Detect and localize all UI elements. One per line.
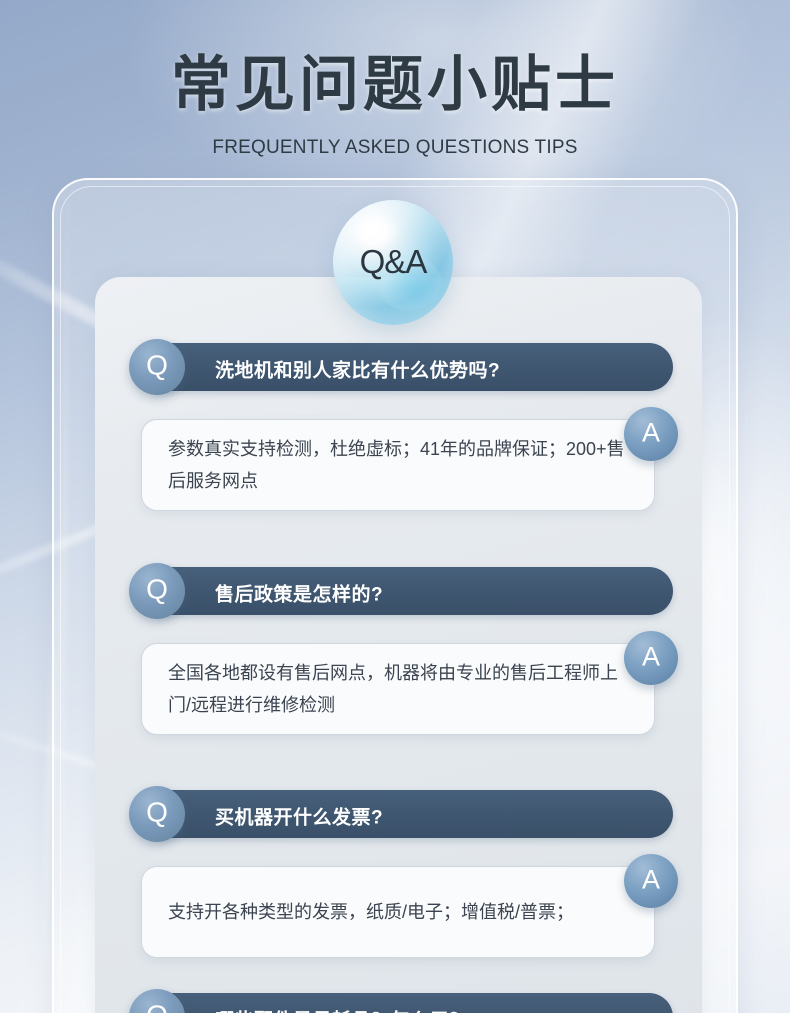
answer-text: 参数真实支持检测，杜绝虚标；41年的品牌保证；200+售后服务网点	[168, 433, 628, 497]
answer-row: 参数真实支持检测，杜绝虚标；41年的品牌保证；200+售后服务网点A	[95, 407, 702, 523]
answer-badge-label: A	[624, 417, 678, 448]
question-row[interactable]: Q买机器开什么发票?	[95, 790, 702, 842]
answer-card: 全国各地都设有售后网点，机器将由专业的售后工程师上门/远程进行维修检测	[141, 643, 655, 735]
answer-row: 支持开各种类型的发票，纸质/电子；增值税/普票；A	[95, 854, 702, 950]
faq-panel: Q洗地机和别人家比有什么优势吗?参数真实支持检测，杜绝虚标；41年的品牌保证；2…	[95, 277, 702, 1013]
answer-text: 全国各地都设有售后网点，机器将由专业的售后工程师上门/远程进行维修检测	[168, 657, 628, 721]
qa-bubble-label: Q&A	[333, 243, 453, 281]
answer-badge: A	[624, 631, 678, 685]
answer-card: 参数真实支持检测，杜绝虚标；41年的品牌保证；200+售后服务网点	[141, 419, 655, 511]
answer-badge: A	[624, 854, 678, 908]
question-text: 买机器开什么发票?	[215, 803, 383, 830]
faq-item[interactable]: Q哪些配件是易耗品？怎么用？	[95, 993, 702, 1013]
page-subtitle: FREQUENTLY ASKED QUESTIONS TIPS	[0, 137, 790, 159]
faq-item[interactable]: Q售后政策是怎样的?全国各地都设有售后网点，机器将由专业的售后工程师上门/远程进…	[95, 567, 702, 747]
faq-page: 常见问题小贴士 FREQUENTLY ASKED QUESTIONS TIPS …	[0, 0, 790, 1013]
page-header: 常见问题小贴士 FREQUENTLY ASKED QUESTIONS TIPS	[0, 0, 790, 159]
question-badge-label: Q	[129, 350, 185, 382]
faq-item[interactable]: Q买机器开什么发票?支持开各种类型的发票，纸质/电子；增值税/普票；A	[95, 790, 702, 950]
question-row[interactable]: Q洗地机和别人家比有什么优势吗?	[95, 343, 702, 395]
faq-item[interactable]: Q洗地机和别人家比有什么优势吗?参数真实支持检测，杜绝虚标；41年的品牌保证；2…	[95, 343, 702, 523]
answer-badge-label: A	[624, 864, 678, 895]
page-title: 常见问题小贴士	[0, 36, 790, 123]
question-badge: Q	[129, 786, 185, 842]
question-badge-label: Q	[129, 574, 185, 606]
question-badge-label: Q	[129, 797, 185, 829]
answer-text: 支持开各种类型的发票，纸质/电子；增值税/普票；	[168, 896, 628, 928]
qa-bubble-icon: Q&A	[333, 200, 453, 325]
answer-badge: A	[624, 407, 678, 461]
answer-card: 支持开各种类型的发票，纸质/电子；增值税/普票；	[141, 866, 655, 958]
question-text: 哪些配件是易耗品？怎么用？	[215, 1006, 469, 1013]
question-text: 售后政策是怎样的?	[215, 580, 383, 607]
question-row[interactable]: Q哪些配件是易耗品？怎么用？	[95, 993, 702, 1013]
answer-badge-label: A	[624, 641, 678, 672]
question-badge-label: Q	[129, 1000, 185, 1013]
question-text: 洗地机和别人家比有什么优势吗?	[215, 356, 500, 383]
answer-row: 全国各地都设有售后网点，机器将由专业的售后工程师上门/远程进行维修检测A	[95, 631, 702, 747]
question-badge: Q	[129, 339, 185, 395]
question-badge: Q	[129, 563, 185, 619]
question-row[interactable]: Q售后政策是怎样的?	[95, 567, 702, 619]
